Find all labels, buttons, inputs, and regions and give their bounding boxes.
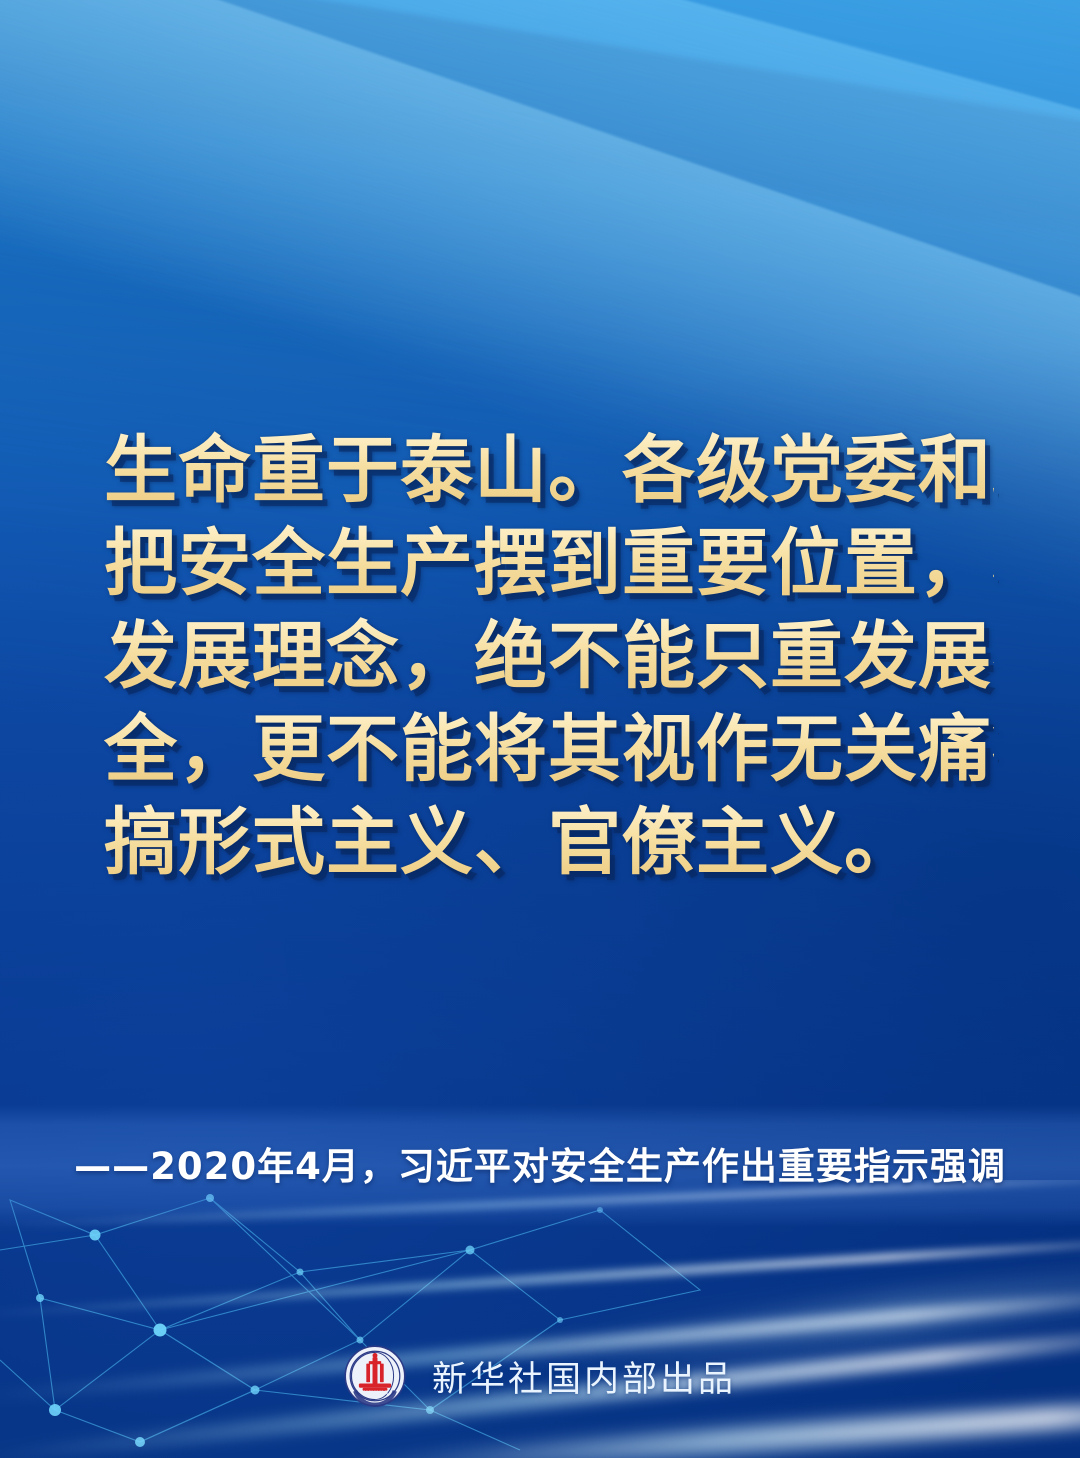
footer: XINHUA 新华社国内部出品 — [0, 1345, 1080, 1407]
xinhua-logo-icon: XINHUA — [344, 1345, 406, 1407]
footer-label: 新华社国内部出品 — [432, 1351, 736, 1402]
quote-line: 生命重于泰山。各级党委和政府务必 — [104, 424, 994, 517]
svg-text:XINHUA: XINHUA — [361, 1391, 389, 1397]
quote-block: 生命重于泰山。各级党委和政府务必 把安全生产摆到重要位置，树牢安全 发展理念，绝… — [104, 424, 994, 889]
poster-root: 生命重于泰山。各级党委和政府务必 把安全生产摆到重要位置，树牢安全 发展理念，绝… — [0, 0, 1080, 1458]
quote-line: 把安全生产摆到重要位置，树牢安全 — [104, 517, 994, 610]
quote-line: 搞形式主义、官僚主义。 — [104, 796, 994, 889]
quote-line: 发展理念，绝不能只重发展不顾安 — [104, 610, 994, 703]
attribution-text: ——2020年4月，习近平对安全生产作出重要指示强调 — [0, 1136, 1080, 1190]
quote-line: 全，更不能将其视作无关痛痒的事， — [104, 703, 994, 796]
